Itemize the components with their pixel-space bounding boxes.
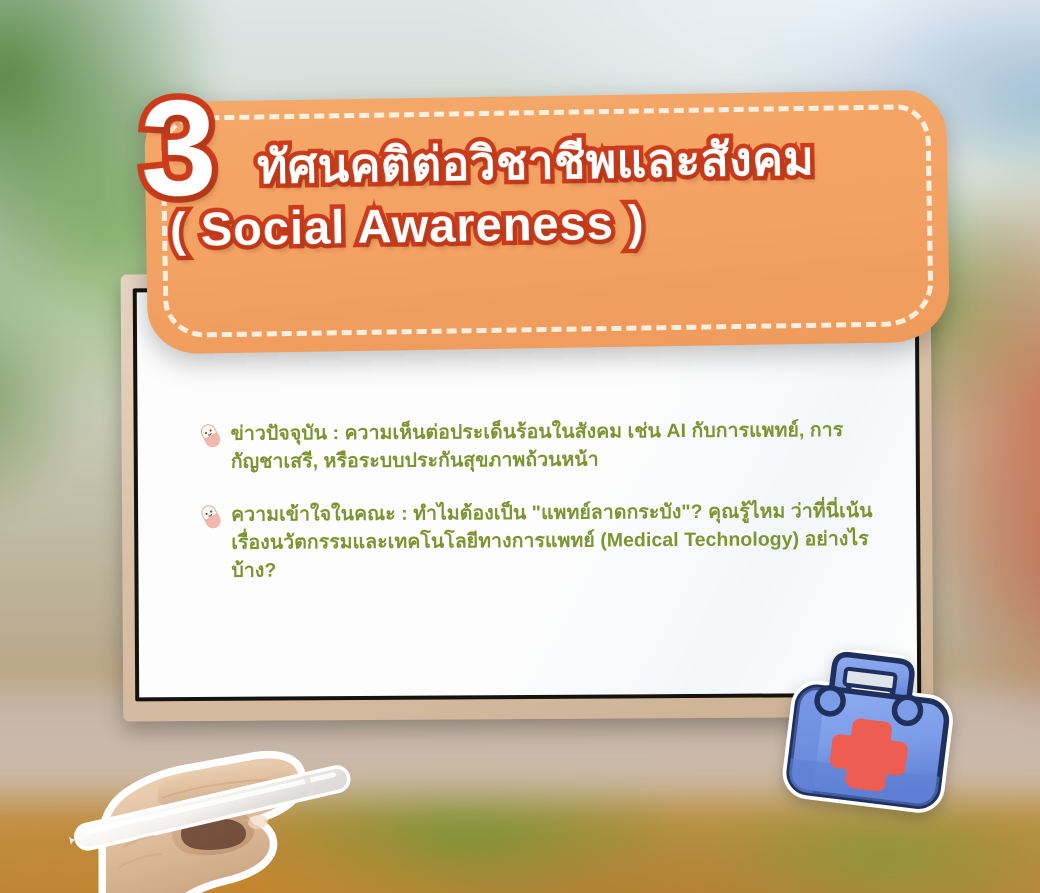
hand-holding-stylus-icon <box>62 690 392 893</box>
medical-bag-icon <box>775 650 965 835</box>
bullet-list: ข่าวปัจจุบัน : ความเห็นต่อประเด็นร้อนในส… <box>200 416 883 610</box>
slide-number: 3 <box>140 79 216 216</box>
page-title-thai: ทัศนคติต่อวิชาชีพและสังคม <box>257 132 926 191</box>
capsule-pill-icon <box>200 504 222 535</box>
capsule-pill-icon <box>200 423 222 454</box>
list-item: ความเข้าใจในคณะ : ทำไมต้องเป็น "แพทย์ลาด… <box>200 496 883 585</box>
list-item-text: ความเข้าใจในคณะ : ทำไมต้องเป็น "แพทย์ลาด… <box>231 496 883 585</box>
slide-canvas: ข่าวปัจจุบัน : ความเห็นต่อประเด็นร้อนในส… <box>0 0 1040 893</box>
header-banner: 3 ทัศนคติต่อวิชาชีพและสังคม ( Social Awa… <box>144 90 950 355</box>
list-item-text: ข่าวปัจจุบัน : ความเห็นต่อประเด็นร้อนในส… <box>231 416 882 477</box>
banner-titles: ทัศนคติต่อวิชาชีพและสังคม ( Social Aware… <box>257 132 927 253</box>
list-item: ข่าวปัจจุบัน : ความเห็นต่อประเด็นร้อนในส… <box>200 416 882 477</box>
